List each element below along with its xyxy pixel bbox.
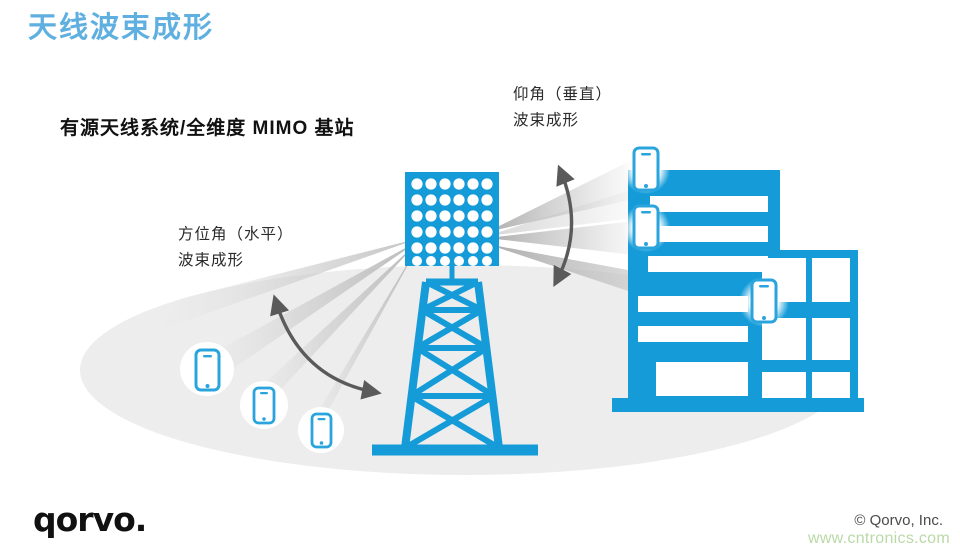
building-phone-2: [622, 204, 670, 252]
outdoor-phone-3: [298, 407, 344, 453]
site-watermark: www.cntronics.com: [808, 530, 950, 548]
qorvo-logo: qorvo.: [33, 500, 146, 539]
copyright-notice: © Qorvo, Inc.: [854, 512, 943, 529]
outdoor-phone-2: [240, 381, 288, 429]
building-phone-3: [739, 277, 789, 327]
beamforming-illustration: [0, 0, 960, 500]
slide-canvas: 天线波束成形 有源天线系统/全维度 MIMO 基站 仰角（垂直） 波束成形 方位…: [0, 0, 960, 554]
building-phone-1: [622, 146, 670, 194]
active-antenna-array: [405, 172, 499, 275]
outdoor-phone-1: [180, 342, 234, 396]
